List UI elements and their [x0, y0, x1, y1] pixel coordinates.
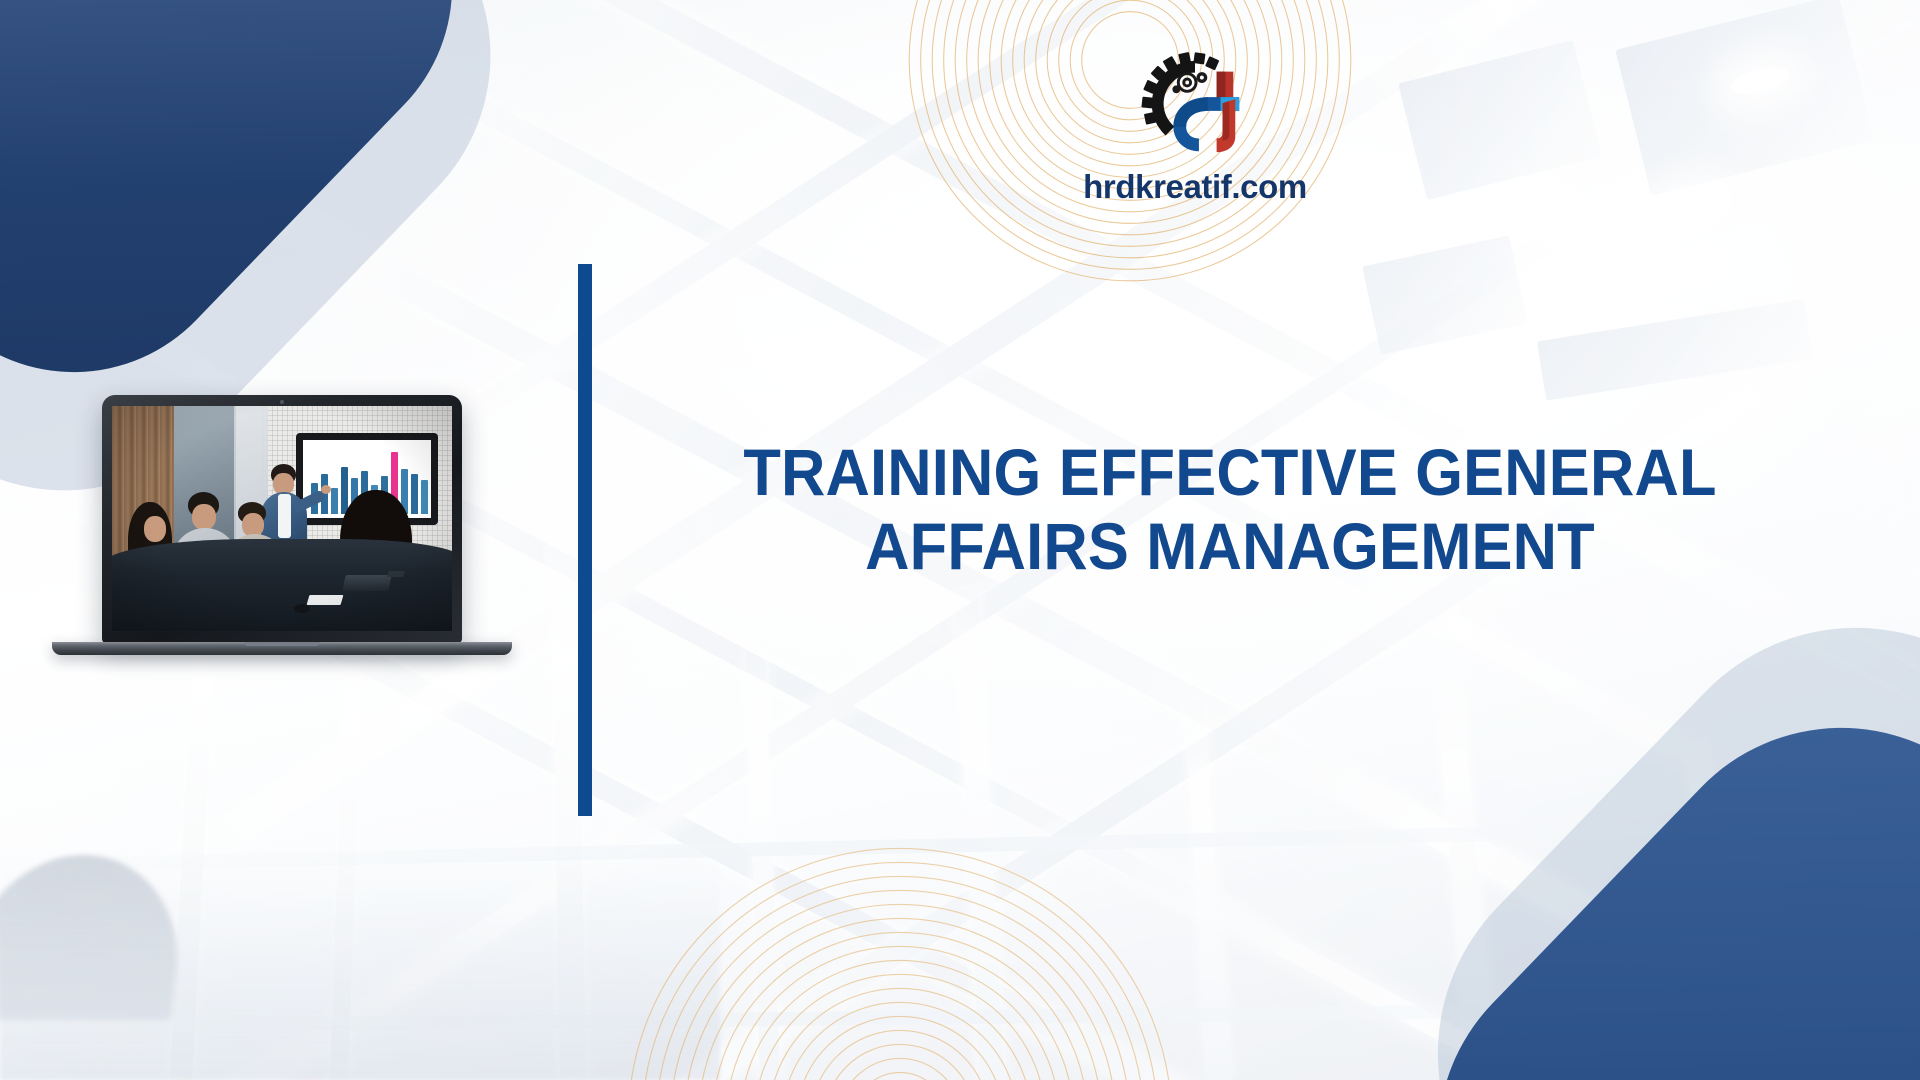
promo-banner: hrdkreatif.com TRAINING EFFECTIVE GENERA… — [0, 0, 1920, 1080]
laptop-notch — [244, 642, 320, 646]
webcam-icon — [280, 400, 284, 404]
table-document — [307, 595, 344, 605]
gear-g-logo-icon — [1136, 52, 1254, 162]
conference-table — [112, 539, 452, 631]
brand-logo: hrdkreatif.com — [1060, 52, 1330, 206]
page-title-line-2: AFFAIRS MANAGEMENT — [681, 510, 1778, 584]
page-title: TRAINING EFFECTIVE GENERAL AFFAIRS MANAG… — [681, 436, 1778, 584]
attendee-face — [144, 516, 166, 542]
laptop-screen — [112, 406, 452, 631]
laptop-lid — [102, 395, 462, 643]
attendee-face — [192, 504, 216, 530]
laptop-base — [52, 642, 512, 655]
laptop-mockup — [52, 395, 512, 695]
table-speaker-puck — [294, 604, 310, 613]
brand-wordmark: hrdkreatif.com — [1060, 168, 1330, 206]
page-title-line-1: TRAINING EFFECTIVE GENERAL — [681, 436, 1778, 510]
meeting-room-photo — [112, 406, 452, 631]
table-phone — [387, 571, 404, 577]
accent-divider-bar — [578, 264, 592, 816]
table-laptop — [342, 575, 391, 591]
